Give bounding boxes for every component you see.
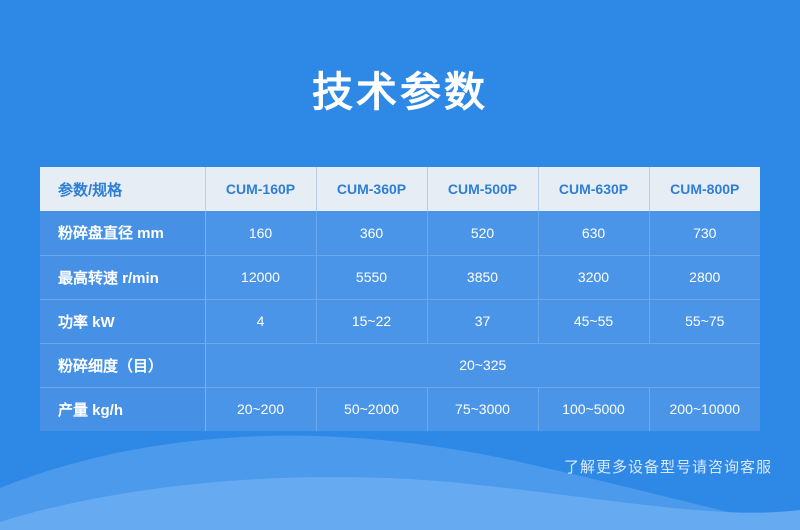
table-cell: 3200 <box>538 255 649 299</box>
table-cell: 12000 <box>205 255 316 299</box>
spec-table-container: 参数/规格 CUM-160P CUM-360P CUM-500P CUM-630… <box>40 167 760 431</box>
table-cell: 730 <box>649 211 760 255</box>
table-cell: 2800 <box>649 255 760 299</box>
table-row: 粉碎盘直径 mm 160 360 520 630 730 <box>40 211 760 255</box>
table-row: 粉碎细度（目） 20~325 <box>40 343 760 387</box>
footer-note: 了解更多设备型号请咨询客服 <box>564 456 772 477</box>
table-cell: 630 <box>538 211 649 255</box>
table-cell: 75~3000 <box>427 387 538 431</box>
table-header-row: 参数/规格 CUM-160P CUM-360P CUM-500P CUM-630… <box>40 167 760 211</box>
page-title: 技术参数 <box>0 68 800 117</box>
row-label: 功率 kW <box>40 299 205 343</box>
table-cell: 55~75 <box>649 299 760 343</box>
table-cell: 100~5000 <box>538 387 649 431</box>
table-cell: 160 <box>205 211 316 255</box>
row-label: 产量 kg/h <box>40 387 205 431</box>
column-header-cum-800p: CUM-800P <box>649 167 760 211</box>
column-header-cum-160p: CUM-160P <box>205 167 316 211</box>
table-cell: 3850 <box>427 255 538 299</box>
table-cell: 200~10000 <box>649 387 760 431</box>
column-header-cum-630p: CUM-630P <box>538 167 649 211</box>
spec-table: 参数/规格 CUM-160P CUM-360P CUM-500P CUM-630… <box>40 167 760 431</box>
column-header-spec: 参数/规格 <box>40 167 205 211</box>
table-body: 粉碎盘直径 mm 160 360 520 630 730 最高转速 r/min … <box>40 211 760 431</box>
table-cell: 15~22 <box>316 299 427 343</box>
table-cell: 45~55 <box>538 299 649 343</box>
table-cell: 5550 <box>316 255 427 299</box>
column-header-cum-500p: CUM-500P <box>427 167 538 211</box>
row-label: 粉碎细度（目） <box>40 343 205 387</box>
table-row: 产量 kg/h 20~200 50~2000 75~3000 100~5000 … <box>40 387 760 431</box>
table-cell: 50~2000 <box>316 387 427 431</box>
table-cell-merged: 20~325 <box>205 343 760 387</box>
table-cell: 520 <box>427 211 538 255</box>
table-row: 最高转速 r/min 12000 5550 3850 3200 2800 <box>40 255 760 299</box>
row-label: 粉碎盘直径 mm <box>40 211 205 255</box>
table-cell: 4 <box>205 299 316 343</box>
table-cell: 360 <box>316 211 427 255</box>
table-header: 参数/规格 CUM-160P CUM-360P CUM-500P CUM-630… <box>40 167 760 211</box>
table-cell: 37 <box>427 299 538 343</box>
row-label: 最高转速 r/min <box>40 255 205 299</box>
column-header-cum-360p: CUM-360P <box>316 167 427 211</box>
table-cell: 20~200 <box>205 387 316 431</box>
wave-back-icon <box>0 436 800 530</box>
table-row: 功率 kW 4 15~22 37 45~55 55~75 <box>40 299 760 343</box>
wave-front-icon <box>0 477 800 530</box>
